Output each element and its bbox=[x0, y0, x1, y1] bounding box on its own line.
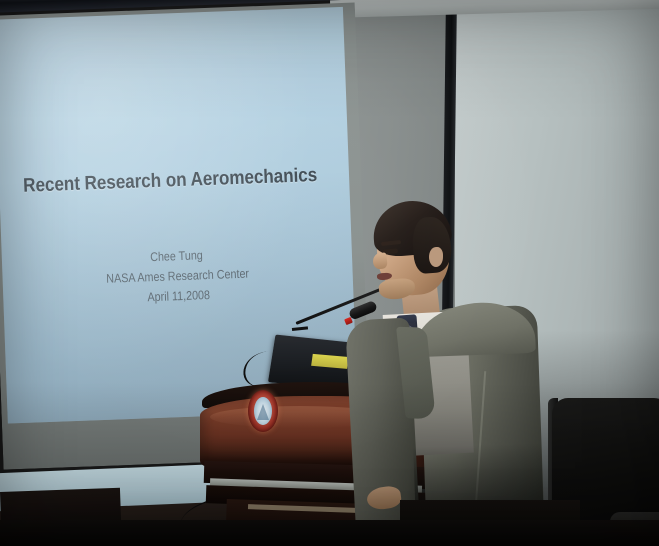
presentation-photo: Recent Research on Aeromechanics Chee Tu… bbox=[0, 0, 659, 546]
floor-shadow bbox=[0, 520, 659, 546]
university-seal-emblem bbox=[248, 390, 278, 432]
yellow-asset-sticker bbox=[311, 354, 349, 369]
presenter-person bbox=[355, 195, 565, 546]
seal-glyph-icon bbox=[257, 404, 269, 420]
ear bbox=[429, 247, 443, 267]
slide-title: Recent Research on Aeromechanics bbox=[23, 164, 305, 197]
nose bbox=[372, 252, 388, 269]
